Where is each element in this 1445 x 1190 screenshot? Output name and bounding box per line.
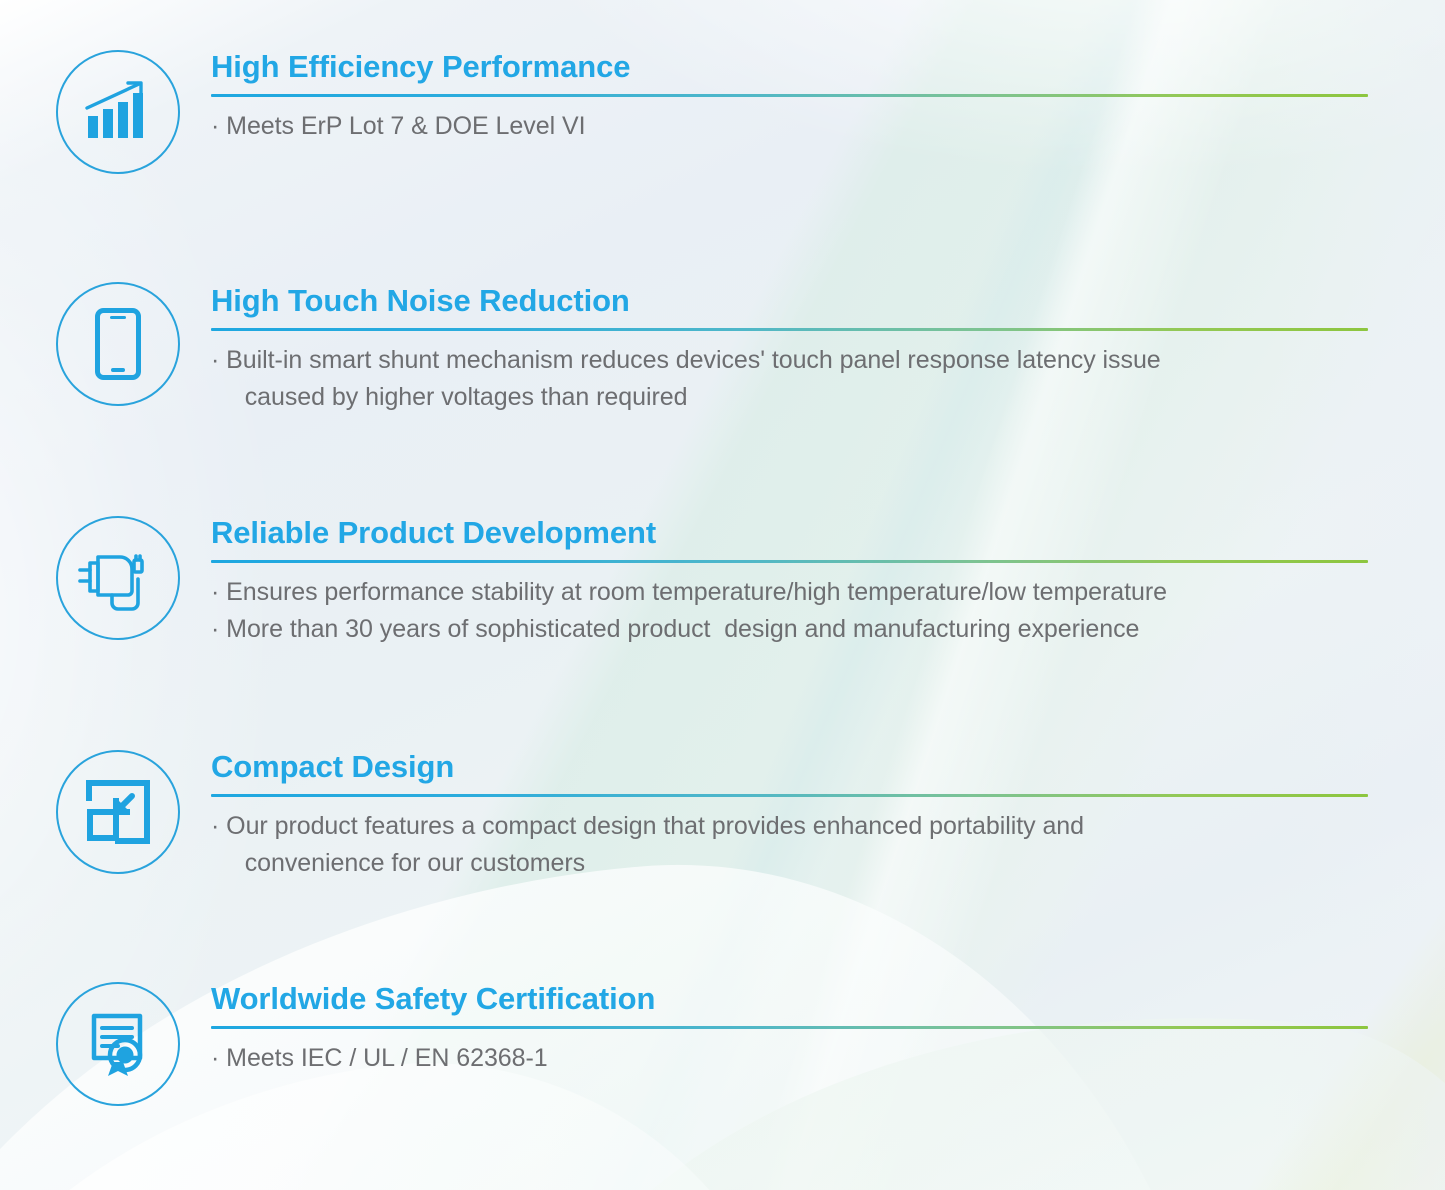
feature-icon-wrapper xyxy=(56,750,180,874)
feature-icon-wrapper xyxy=(56,50,180,174)
bar-chart-growth-icon xyxy=(56,50,180,174)
compact-resize-icon xyxy=(56,750,180,874)
feature-icon-wrapper xyxy=(56,516,180,640)
feature-bullet: · Our product features a compact design … xyxy=(211,808,1369,883)
feature-list-page: High Efficiency Performance · Meets ErP … xyxy=(0,0,1445,1190)
feature-divider xyxy=(211,94,1368,97)
feature-bullet: · Ensures performance stability at room … xyxy=(211,574,1369,612)
feature-divider xyxy=(211,328,1368,331)
power-adapter-icon xyxy=(56,516,180,640)
certificate-award-icon xyxy=(56,982,180,1106)
feature-title: Reliable Product Development xyxy=(211,516,1369,551)
feature-text-column: Reliable Product Development · Ensures p… xyxy=(211,516,1369,649)
feature-bullet-list: · Built-in smart shunt mechanism reduces… xyxy=(211,342,1369,417)
feature-text-column: Worldwide Safety Certification · Meets I… xyxy=(211,982,1369,1077)
feature-divider xyxy=(211,1026,1368,1029)
feature-title: Compact Design xyxy=(211,750,1369,785)
feature-icon-wrapper xyxy=(56,282,180,406)
feature-bullet-list: · Ensures performance stability at room … xyxy=(211,574,1369,649)
smartphone-icon xyxy=(56,282,180,406)
feature-icon-wrapper xyxy=(56,982,180,1106)
feature-title: Worldwide Safety Certification xyxy=(211,982,1369,1017)
feature-text-column: High Touch Noise Reduction · Built-in sm… xyxy=(211,284,1369,417)
feature-bullet-list: · Meets ErP Lot 7 & DOE Level VI xyxy=(211,108,1369,146)
feature-bullet: · Meets ErP Lot 7 & DOE Level VI xyxy=(211,108,1369,146)
feature-title: High Touch Noise Reduction xyxy=(211,284,1369,319)
feature-divider xyxy=(211,794,1368,797)
feature-title: High Efficiency Performance xyxy=(211,50,1369,85)
feature-bullet-list: · Our product features a compact design … xyxy=(211,808,1369,883)
feature-bullet: · More than 30 years of sophisticated pr… xyxy=(211,611,1369,649)
feature-bullet: · Meets IEC / UL / EN 62368-1 xyxy=(211,1040,1369,1078)
feature-divider xyxy=(211,560,1368,563)
feature-bullet-list: · Meets IEC / UL / EN 62368-1 xyxy=(211,1040,1369,1078)
feature-bullet: · Built-in smart shunt mechanism reduces… xyxy=(211,342,1369,417)
feature-text-column: Compact Design · Our product features a … xyxy=(211,750,1369,883)
feature-text-column: High Efficiency Performance · Meets ErP … xyxy=(211,50,1369,145)
feature-list: High Efficiency Performance · Meets ErP … xyxy=(0,0,1445,1190)
